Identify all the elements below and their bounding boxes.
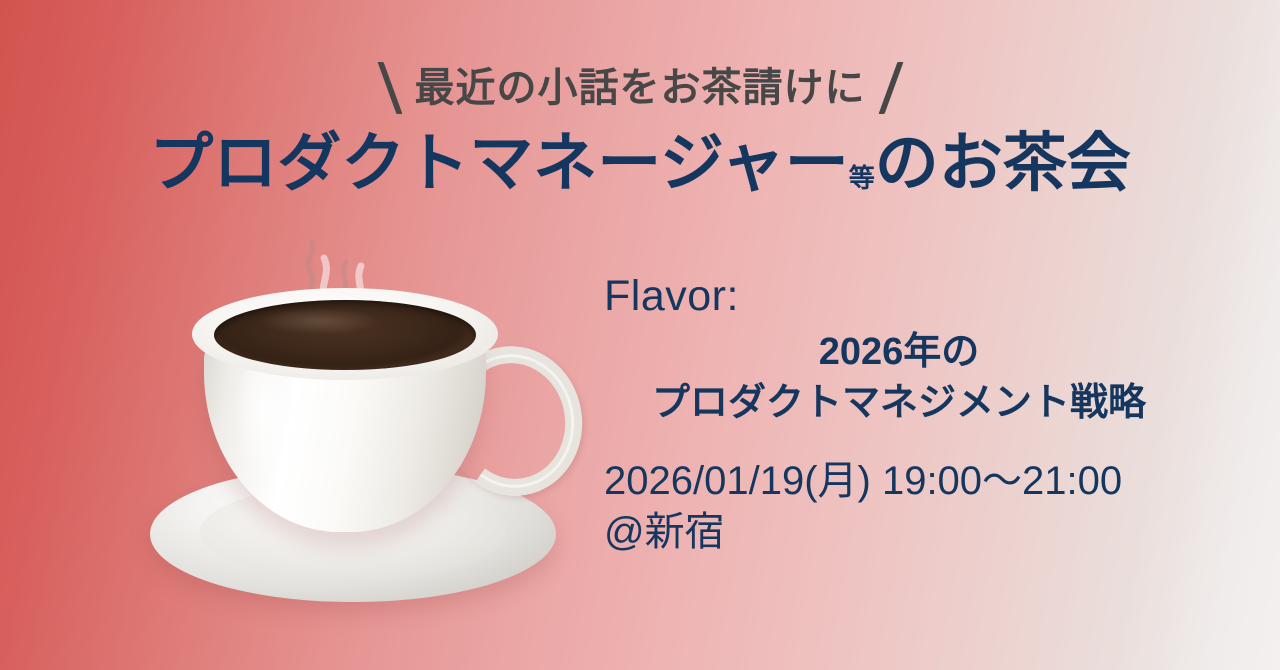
headline-block: 最近の小話をお茶請けに プロダクトマネージャー等のお茶会 [0, 62, 1280, 198]
schedule-venue: @新宿 [604, 507, 1204, 558]
kicker-line: 最近の小話をお茶請けに [0, 62, 1280, 114]
schedule-datetime: 2026/01/19(月) 19:00〜21:00 [604, 456, 1204, 507]
kicker-text: 最近の小話をお茶請けに [415, 65, 866, 111]
event-info-block: Flavor: 2026年の プロダクトマネジメント戦略 2026/01/19(… [604, 272, 1204, 558]
coffee-sheen-highlight [260, 308, 380, 334]
flavor-label: Flavor: [604, 272, 1204, 321]
flavor-line-2: プロダクトマネジメント戦略 [604, 378, 1194, 428]
cup-gloss-highlight [232, 358, 294, 486]
coffee-cup-icon [148, 238, 558, 604]
event-banner: 最近の小話をお茶請けに プロダクトマネージャー等のお茶会 Flavor: 202… [0, 0, 1280, 670]
title-main-text: プロダクトマネージャー [149, 127, 849, 199]
flavor-line-1: 2026年の [604, 327, 1194, 377]
schedule-block: 2026/01/19(月) 19:00〜21:00 @新宿 [604, 456, 1204, 558]
slash-right-icon [878, 62, 903, 114]
page-title: プロダクトマネージャー等のお茶会 [0, 128, 1280, 198]
flavor-value: 2026年の プロダクトマネジメント戦略 [604, 327, 1204, 427]
title-tail-text: のお茶会 [875, 127, 1131, 199]
slash-left-icon [377, 62, 402, 114]
title-etc-text: 等 [849, 163, 875, 193]
